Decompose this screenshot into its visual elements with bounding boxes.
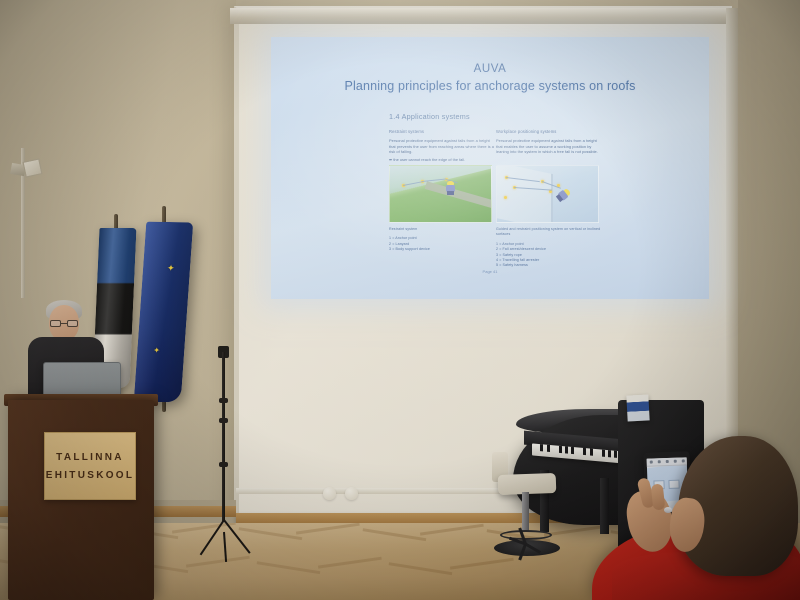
podium-sign-line1: TALLINNA xyxy=(56,452,124,463)
figure-caption-right: Guided and restraint positioning system … xyxy=(496,227,603,269)
tripod-shaft xyxy=(222,352,225,522)
slide-column-right: Workplace positioning systems Personal p… xyxy=(496,129,603,155)
toolbar-icon[interactable] xyxy=(665,460,668,463)
tablet-toolbar[interactable] xyxy=(647,457,687,466)
toolbar-icon[interactable] xyxy=(657,460,660,463)
eu-star-icon: ✦ xyxy=(153,347,160,355)
wall-socket xyxy=(345,487,358,500)
toolbar-icon[interactable] xyxy=(681,459,684,462)
legend-item: 3 = Body support device xyxy=(389,247,496,252)
wall-socket xyxy=(323,487,336,500)
slide-section-heading: 1.4 Application systems xyxy=(389,112,470,121)
projected-slide: AUVA Planning principles for anchorage s… xyxy=(271,37,709,299)
tripod-knob xyxy=(219,418,228,423)
toolbar-icon[interactable] xyxy=(649,461,652,464)
slide-title-block: AUVA Planning principles for anchorage s… xyxy=(271,63,709,93)
tripod-knob xyxy=(219,398,228,403)
caption-text: Guided and restraint positioning system … xyxy=(496,227,603,238)
slide-page-number: Page 41 xyxy=(271,269,709,274)
piano-leg xyxy=(600,478,609,534)
column-bullet: ➨ the user cannot reach the edge of the … xyxy=(389,157,496,162)
roof-surface-graphic xyxy=(389,165,492,223)
slide-organization: AUVA xyxy=(271,63,709,75)
slide-figure-positioning xyxy=(496,165,599,223)
column-body: Personal protective equipment against fa… xyxy=(496,138,603,155)
speaker-podium: TALLINNA EHITUSKOOL xyxy=(8,400,154,600)
slide-column-left: Restraint systems Personal protective eq… xyxy=(389,129,496,162)
column-heading: Workplace positioning systems xyxy=(496,129,603,134)
stool-base xyxy=(494,540,560,556)
stool-footring xyxy=(500,530,552,540)
photograph-scene: AUVA Planning principles for anchorage s… xyxy=(0,0,800,600)
slide-figure-restraint xyxy=(389,165,492,223)
facade-graphic xyxy=(496,165,553,223)
panel-molding-top xyxy=(230,8,740,24)
book-on-piano xyxy=(626,394,649,421)
podium-sign: TALLINNA EHITUSKOOL xyxy=(44,432,136,500)
caption-text: Restraint system xyxy=(389,227,496,232)
worker-figure-graphic xyxy=(555,187,572,203)
legend-item: 5 = Safety harness xyxy=(496,263,603,268)
figure-caption-left: Restraint system 1 = Anchor point 2 = La… xyxy=(389,227,496,253)
glasses-icon xyxy=(50,320,78,327)
eu-star-icon: ✦ xyxy=(167,264,175,273)
podium-sign-line2: EHITUSKOOL xyxy=(46,470,135,481)
stool-post xyxy=(522,492,529,532)
column-body: Personal protective equipment against fa… xyxy=(389,138,496,155)
slide-title: Planning principles for anchorage system… xyxy=(271,79,709,93)
tripod-legs xyxy=(200,518,250,562)
tripod-knob xyxy=(219,462,228,467)
toolbar-icon[interactable] xyxy=(673,460,676,463)
tablet-thumbnail[interactable] xyxy=(668,480,679,489)
column-heading: Restraint systems xyxy=(389,129,496,134)
worker-figure-graphic xyxy=(446,181,455,195)
